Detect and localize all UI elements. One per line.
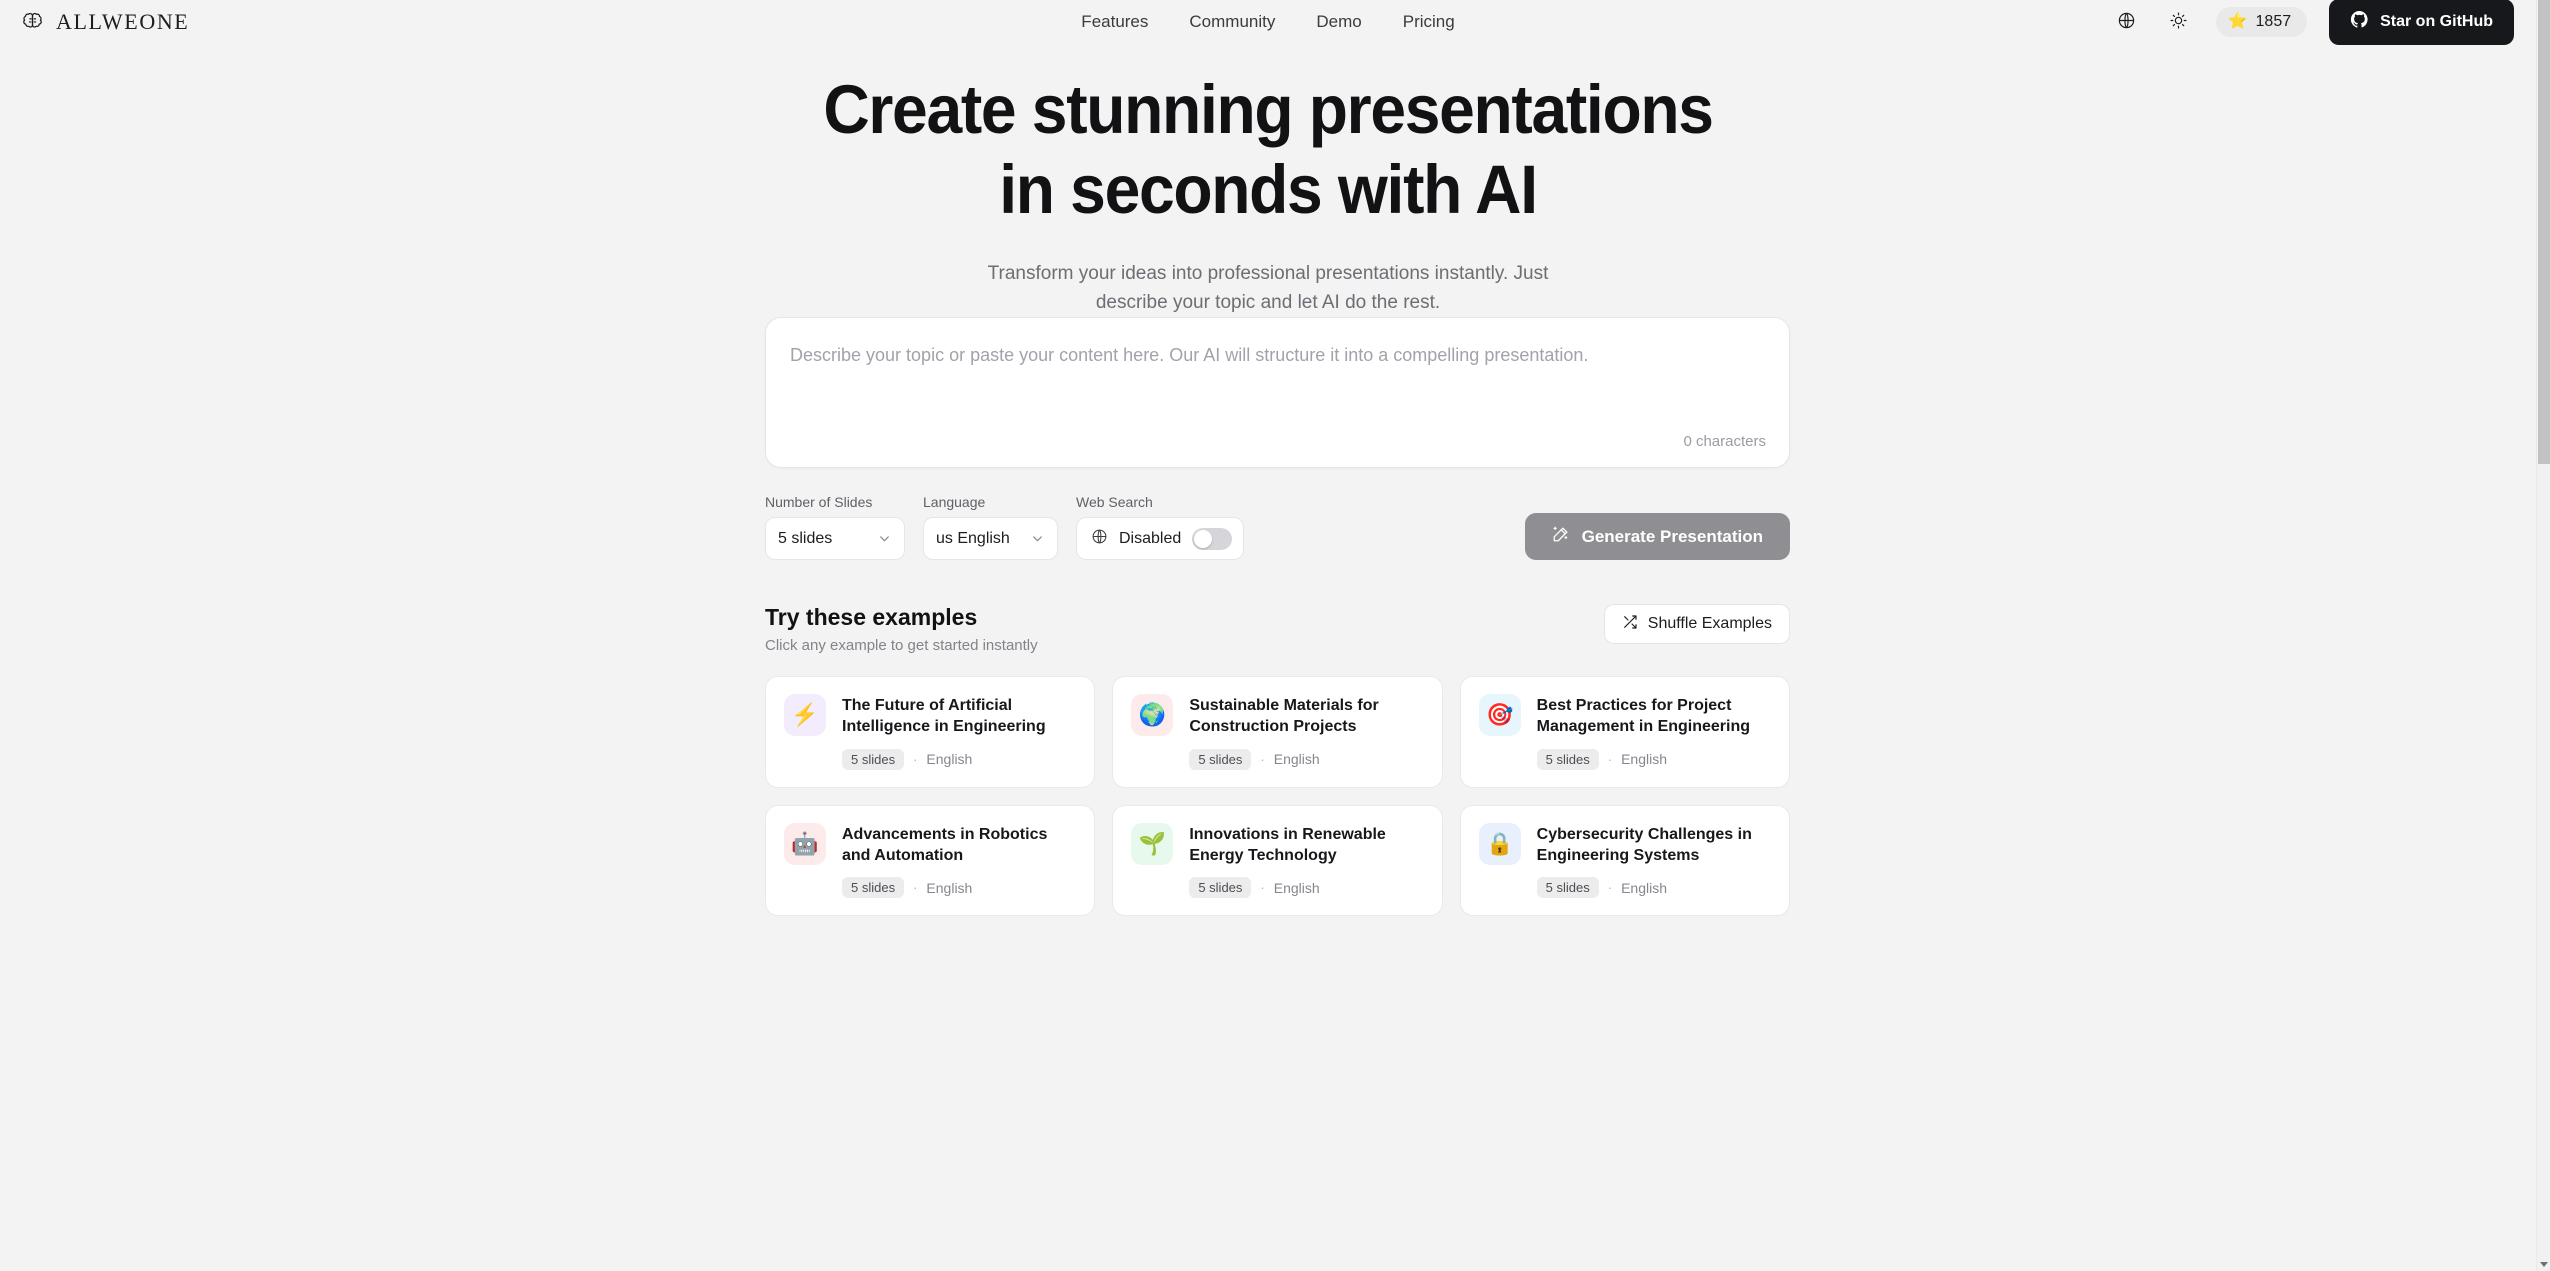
language-control: Language us English	[923, 494, 1058, 560]
example-card-body: Advancements in Robotics and Automation …	[842, 823, 1076, 899]
examples-title: Try these examples	[765, 604, 1038, 631]
meta-separator: ·	[1608, 752, 1612, 767]
example-card-body: Cybersecurity Challenges in Engineering …	[1537, 823, 1771, 899]
language-switcher-button[interactable]	[2112, 7, 2142, 37]
example-card-language: English	[1274, 751, 1320, 767]
header-actions: ⭐ 1857 Star on GitHub	[2112, 0, 2514, 45]
chevron-down-icon	[877, 531, 892, 546]
robot-emoji: 🤖	[784, 823, 826, 865]
example-card-meta: 5 slides · English	[1537, 749, 1771, 770]
web-search-control: Web Search Disabled	[1076, 494, 1244, 560]
example-card[interactable]: 🎯 Best Practices for Project Management …	[1460, 676, 1790, 788]
number-of-slides-label: Number of Slides	[765, 494, 905, 510]
example-card-language: English	[1274, 880, 1320, 896]
star-on-github-button[interactable]: Star on GitHub	[2329, 0, 2514, 45]
github-star-count-badge[interactable]: ⭐ 1857	[2216, 7, 2308, 37]
earth-globe-emoji: 🌍	[1131, 694, 1173, 736]
example-card-language: English	[1621, 751, 1667, 767]
example-card-title: Cybersecurity Challenges in Engineering …	[1537, 824, 1771, 867]
examples-grid: ⚡ The Future of Artificial Intelligence …	[765, 676, 1790, 916]
nav-link-community[interactable]: Community	[1189, 12, 1275, 32]
page-scrollbar[interactable]	[2536, 0, 2550, 1271]
theme-toggle-button[interactable]	[2164, 7, 2194, 37]
chevron-down-icon	[1030, 531, 1045, 546]
example-card[interactable]: 🤖 Advancements in Robotics and Automatio…	[765, 805, 1095, 917]
example-card-title: Best Practices for Project Management in…	[1537, 695, 1771, 738]
example-card-language: English	[926, 751, 972, 767]
example-card-language: English	[926, 880, 972, 896]
meta-separator: ·	[913, 880, 917, 895]
slides-badge: 5 slides	[1189, 877, 1251, 898]
slides-badge: 5 slides	[1189, 749, 1251, 770]
example-card-body: Innovations in Renewable Energy Technolo…	[1189, 823, 1423, 899]
page-title-line-2: in seconds with AI	[999, 151, 1537, 228]
number-of-slides-control: Number of Slides 5 slides	[765, 494, 905, 560]
example-card-meta: 5 slides · English	[842, 749, 1076, 770]
example-card[interactable]: 🌱 Innovations in Renewable Energy Techno…	[1112, 805, 1442, 917]
web-search-label: Web Search	[1076, 494, 1244, 510]
main-nav: Features Community Demo Pricing	[1081, 12, 1454, 32]
meta-separator: ·	[1260, 880, 1264, 895]
example-card-meta: 5 slides · English	[1189, 877, 1423, 898]
shuffle-examples-button[interactable]: Shuffle Examples	[1604, 604, 1790, 644]
github-icon	[2350, 10, 2369, 34]
examples-heading-group: Try these examples Click any example to …	[765, 604, 1038, 654]
page-subtitle: Transform your ideas into professional p…	[0, 260, 2536, 317]
example-card-title: Sustainable Materials for Construction P…	[1189, 695, 1423, 738]
shuffle-examples-label: Shuffle Examples	[1648, 615, 1772, 633]
web-search-toggle-row[interactable]: Disabled	[1076, 517, 1244, 560]
brand-name: ALLWEONE	[56, 9, 189, 35]
example-card[interactable]: 🔒 Cybersecurity Challenges in Engineerin…	[1460, 805, 1790, 917]
main-content: Describe your topic or paste your conten…	[765, 317, 1790, 916]
globe-icon	[2117, 11, 2136, 33]
slides-badge: 5 slides	[842, 749, 904, 770]
examples-header: Try these examples Click any example to …	[765, 604, 1790, 654]
dart-target-emoji: 🎯	[1479, 694, 1521, 736]
page-subtitle-line-1: Transform your ideas into professional p…	[0, 260, 2536, 289]
star-count: 1857	[2256, 13, 2292, 31]
web-search-toggle[interactable]	[1192, 528, 1232, 550]
app-header: ALLWEONE Features Community Demo Pricing	[0, 0, 2536, 43]
topic-input-placeholder[interactable]: Describe your topic or paste your conten…	[790, 345, 1588, 366]
meta-separator: ·	[1260, 752, 1264, 767]
meta-separator: ·	[913, 752, 917, 767]
sun-icon	[2169, 11, 2188, 33]
seedling-emoji: 🌱	[1131, 823, 1173, 865]
example-card[interactable]: ⚡ The Future of Artificial Intelligence …	[765, 676, 1095, 788]
number-of-slides-select[interactable]: 5 slides	[765, 517, 905, 560]
meta-separator: ·	[1608, 880, 1612, 895]
language-select[interactable]: us English	[923, 517, 1058, 560]
web-search-state-label: Disabled	[1119, 530, 1181, 548]
slides-badge: 5 slides	[1537, 877, 1599, 898]
example-card-title: Innovations in Renewable Energy Technolo…	[1189, 824, 1423, 867]
example-card-meta: 5 slides · English	[842, 877, 1076, 898]
topic-composer[interactable]: Describe your topic or paste your conten…	[765, 317, 1790, 468]
language-value: us English	[936, 530, 1030, 548]
page-title-line-1: Create stunning presentations	[823, 71, 1712, 148]
generation-controls: Number of Slides 5 slides Language us En…	[765, 494, 1790, 560]
star-on-github-label: Star on GitHub	[2380, 13, 2493, 31]
lock-emoji: 🔒	[1479, 823, 1521, 865]
examples-subtitle: Click any example to get started instant…	[765, 637, 1038, 654]
example-card-title: The Future of Artificial Intelligence in…	[842, 695, 1076, 738]
globe-icon	[1091, 528, 1108, 550]
brain-icon	[22, 11, 43, 32]
toggle-knob	[1194, 530, 1212, 548]
example-card[interactable]: 🌍 Sustainable Materials for Construction…	[1112, 676, 1442, 788]
nav-link-features[interactable]: Features	[1081, 12, 1148, 32]
example-card-meta: 5 slides · English	[1189, 749, 1423, 770]
example-card-title: Advancements in Robotics and Automation	[842, 824, 1076, 867]
example-card-language: English	[1621, 880, 1667, 896]
slides-badge: 5 slides	[1537, 749, 1599, 770]
hero-section: Create stunning presentations in seconds…	[0, 70, 2536, 317]
example-card-meta: 5 slides · English	[1537, 877, 1771, 898]
star-icon: ⭐	[2228, 14, 2248, 30]
slides-badge: 5 slides	[842, 877, 904, 898]
brand-logo[interactable]: ALLWEONE	[22, 9, 189, 35]
nav-link-pricing[interactable]: Pricing	[1403, 12, 1455, 32]
character-counter: 0 characters	[1683, 433, 1766, 450]
shuffle-icon	[1622, 614, 1638, 635]
number-of-slides-value: 5 slides	[778, 530, 877, 548]
page-title: Create stunning presentations in seconds…	[89, 70, 2447, 230]
generate-presentation-button[interactable]: Generate Presentation	[1525, 513, 1790, 560]
nav-link-demo[interactable]: Demo	[1316, 12, 1361, 32]
example-card-body: Sustainable Materials for Construction P…	[1189, 694, 1423, 770]
language-label: Language	[923, 494, 1058, 510]
example-card-body: Best Practices for Project Management in…	[1537, 694, 1771, 770]
lightning-bolt-emoji: ⚡	[784, 694, 826, 736]
page-subtitle-line-2: describe your topic and let AI do the re…	[0, 289, 2536, 318]
scrollbar-down-arrow-icon[interactable]	[2540, 1262, 2548, 1267]
scrollbar-thumb[interactable]	[2538, 0, 2550, 464]
example-card-body: The Future of Artificial Intelligence in…	[842, 694, 1076, 770]
magic-wand-icon	[1552, 525, 1570, 548]
generate-presentation-label: Generate Presentation	[1582, 527, 1763, 547]
